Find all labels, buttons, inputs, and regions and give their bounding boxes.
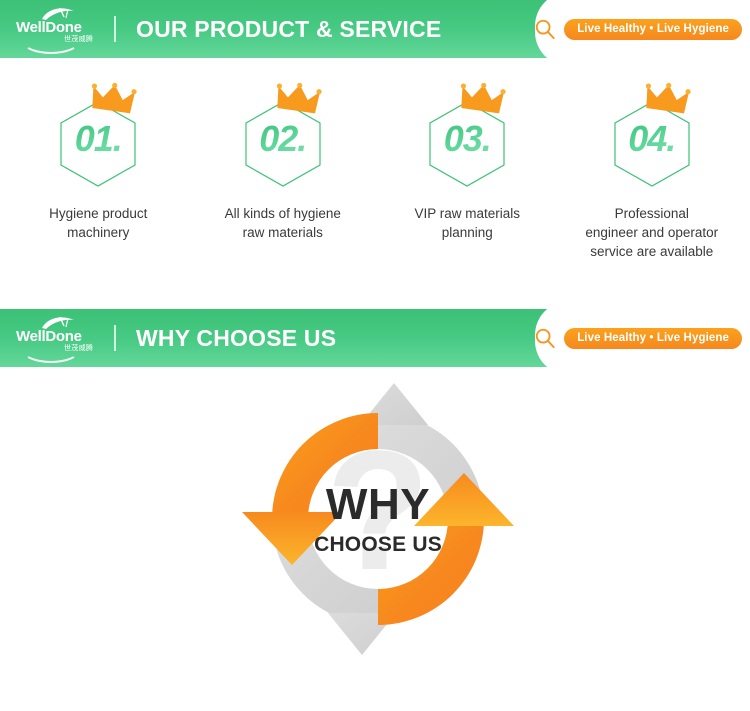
feature-badge: 03.: [417, 80, 517, 192]
feature-item[interactable]: 01. Hygiene product machinery: [6, 80, 191, 261]
tagline-badge[interactable]: Live Healthy • Live Hygiene: [564, 328, 742, 349]
feature-caption: Professional engineer and operator servi…: [560, 204, 745, 261]
feature-caption: All kinds of hygiene raw materials: [191, 204, 376, 242]
feature-caption: Hygiene product machinery: [6, 204, 191, 242]
logo-chinese-name: 世茂威腾: [64, 34, 93, 44]
crown-icon: [89, 80, 138, 114]
brand-logo[interactable]: WellDone 世茂威腾: [10, 0, 106, 58]
feature-item[interactable]: 02. All kinds of hygiene raw materials: [191, 80, 376, 261]
header-divider: [114, 16, 116, 42]
feature-badge: 01.: [48, 80, 148, 192]
tagline-badge[interactable]: Live Healthy • Live Hygiene: [564, 19, 742, 40]
section-header-products: WellDone 世茂威腾 OUR PRODUCT & SERVICE Live…: [0, 0, 750, 58]
feature-number: 04.: [602, 118, 702, 160]
section-header-why: WellDone 世茂威腾 WHY CHOOSE US Live Healthy…: [0, 309, 750, 367]
crown-icon: [274, 80, 323, 114]
feature-number: 03.: [417, 118, 517, 160]
brand-logo[interactable]: WellDone 世茂威腾: [10, 309, 106, 367]
search-icon[interactable]: [534, 327, 556, 349]
section-title: OUR PRODUCT & SERVICE: [136, 16, 441, 43]
feature-number: 01.: [48, 118, 148, 160]
why-choose-us-body: ?: [0, 367, 750, 682]
feature-badge: 04.: [602, 80, 702, 192]
crown-icon: [643, 80, 692, 114]
header-divider: [114, 325, 116, 351]
cycle-arrows-diagram: ?: [232, 373, 524, 665]
crown-icon: [458, 80, 507, 114]
search-icon[interactable]: [534, 18, 556, 40]
section-title: WHY CHOOSE US: [136, 325, 336, 352]
page-root: WellDone 世茂威腾 OUR PRODUCT & SERVICE Live…: [0, 0, 750, 711]
logo-chinese-name: 世茂威腾: [64, 343, 93, 353]
features-row: 01. Hygiene product machinery 02. All ki…: [0, 80, 750, 261]
feature-number: 02.: [233, 118, 333, 160]
feature-caption: VIP raw materials planning: [375, 204, 560, 242]
feature-item[interactable]: 04. Professional engineer and operator s…: [560, 80, 745, 261]
feature-item[interactable]: 03. VIP raw materials planning: [375, 80, 560, 261]
feature-badge: 02.: [233, 80, 333, 192]
